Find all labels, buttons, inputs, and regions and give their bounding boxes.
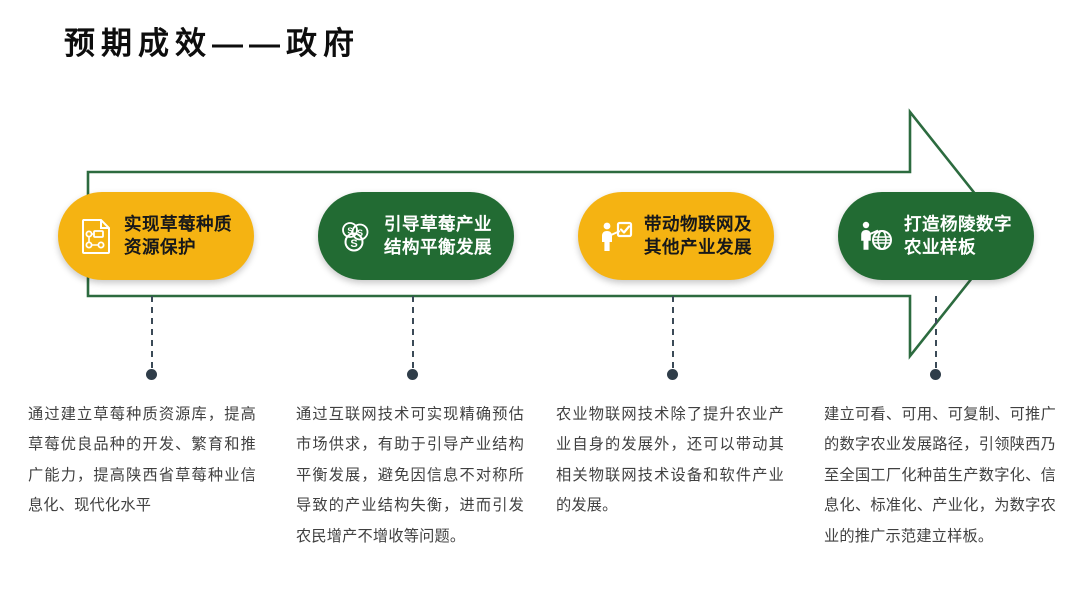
connector-dot-3 (667, 369, 678, 380)
step-description-2: 通过互联网技术可实现精确预估市场供求，有助于引导产业结构平衡发展，避免因信息不对… (296, 400, 524, 552)
connector-line-3 (672, 296, 674, 370)
connector-line-4 (935, 296, 937, 370)
step-pill-label: 引导草莓产业 结构平衡发展 (384, 213, 492, 259)
connector-line-2 (412, 296, 414, 370)
step-pill-label: 实现草莓种质 资源保护 (124, 213, 232, 259)
step-pill-label: 打造杨陵数字 农业样板 (904, 213, 1012, 259)
person-globe-icon (854, 214, 898, 258)
step-pill-4[interactable]: 打造杨陵数字 农业样板 (838, 192, 1034, 280)
page-title: 预期成效——政府 (64, 18, 360, 63)
step-description-3: 农业物联网技术除了提升农业产业自身的发展外，还可以带动其相关物联网技术设备和软件… (556, 400, 784, 522)
coins-money-icon: S S S (334, 214, 378, 258)
connector-dot-4 (930, 369, 941, 380)
connector-dot-2 (407, 369, 418, 380)
step-description-1: 通过建立草莓种质资源库，提高草莓优良品种的开发、繁育和推广能力，提高陕西省草莓种… (28, 400, 256, 522)
connector-dot-1 (146, 369, 157, 380)
step-pill-label: 带动物联网及 其他产业发展 (644, 213, 752, 259)
step-pill-3[interactable]: 带动物联网及 其他产业发展 (578, 192, 774, 280)
person-checklist-icon (594, 214, 638, 258)
svg-text:S: S (357, 228, 363, 238)
connector-line-1 (151, 296, 153, 370)
svg-text:S: S (347, 227, 353, 236)
step-pill-2[interactable]: S S S 引导草莓产业 结构平衡发展 (318, 192, 514, 280)
step-pill-1[interactable]: 实现草莓种质 资源保护 (58, 192, 254, 280)
document-flowchart-icon (74, 214, 118, 258)
svg-text:S: S (350, 238, 357, 250)
step-description-4: 建立可看、可用、可复制、可推广的数字农业发展路径，引领陕西乃至全国工厂化种苗生产… (824, 400, 1056, 552)
